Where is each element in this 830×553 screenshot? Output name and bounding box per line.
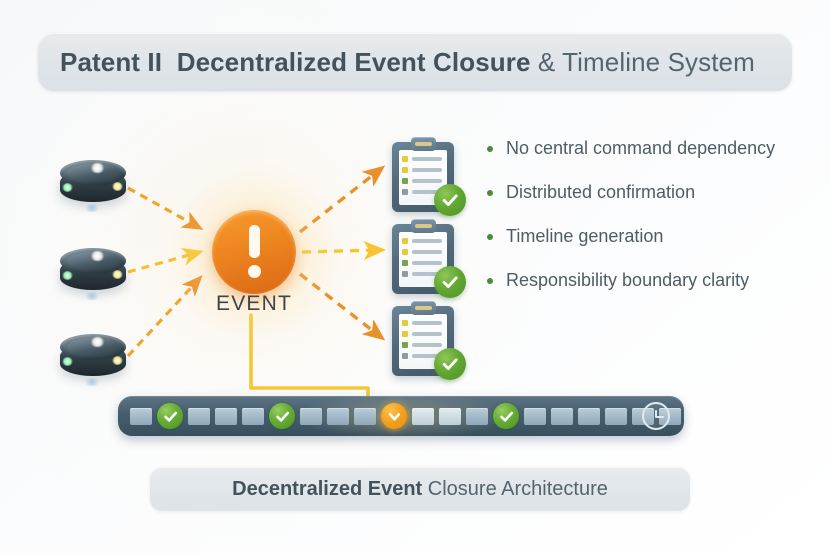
timeline-segment — [354, 408, 376, 425]
timeline-bar — [118, 396, 684, 436]
page-title: Patent II Decentralized Event Closure & … — [60, 47, 755, 78]
list-item: Responsibility boundary clarity — [487, 268, 817, 293]
robot-node-2 — [56, 244, 130, 296]
timeline-segment — [188, 408, 210, 425]
title-part-patent: Patent II — [60, 47, 162, 77]
benefit-label: Responsibility boundary clarity — [506, 268, 749, 293]
bullet-dot-icon — [487, 234, 493, 240]
check-circle-icon — [434, 348, 466, 380]
caption-text: Decentralized Event Closure Architecture — [232, 478, 608, 501]
robot-underglow — [83, 378, 101, 386]
timeline-segment — [242, 408, 264, 425]
timeline-segment — [215, 408, 237, 425]
benefit-label: Timeline generation — [506, 224, 663, 249]
clipboard-clip — [411, 137, 436, 151]
caption-banner: Decentralized Event Closure Architecture — [150, 467, 690, 511]
closure-report-2 — [392, 218, 460, 294]
timeline-segment — [578, 408, 600, 425]
bullet-dot-icon — [487, 146, 493, 152]
timeline-segment — [551, 408, 573, 425]
clipboard-clip — [411, 301, 436, 315]
benefits-list: No central command dependency Distribute… — [487, 136, 817, 312]
robot-node-3 — [56, 330, 130, 382]
closure-report-3 — [392, 300, 460, 376]
caption-regular-part: Closure Architecture — [428, 478, 608, 500]
timeline-check-icon — [157, 403, 183, 429]
timeline-segment — [412, 408, 434, 425]
robot-underglow — [83, 204, 101, 212]
event-node — [212, 210, 296, 294]
timeline-segment — [524, 408, 546, 425]
check-circle-icon — [434, 184, 466, 216]
timeline-segment — [327, 408, 349, 425]
list-item: Timeline generation — [487, 224, 817, 249]
title-banner: Patent II Decentralized Event Closure & … — [38, 33, 792, 91]
exclamation-icon — [248, 225, 261, 279]
title-part-suffix: & Timeline System — [538, 47, 755, 77]
timeline-segment — [130, 408, 152, 425]
robot-highlight — [90, 337, 105, 347]
timeline-segment — [466, 408, 488, 425]
closure-report-1 — [392, 136, 460, 212]
robot-led-left — [62, 183, 73, 192]
slide-canvas: Patent II Decentralized Event Closure & … — [0, 0, 830, 553]
caption-bold-part: Decentralized Event — [232, 478, 422, 500]
clock-icon — [642, 402, 670, 430]
timeline-segment — [439, 408, 461, 425]
list-item: Distributed confirmation — [487, 180, 817, 205]
bullet-dot-icon — [487, 190, 493, 196]
timeline-current-marker-icon — [381, 403, 407, 429]
title-part-closure: Closure — [433, 47, 531, 77]
benefit-label: No central command dependency — [506, 136, 775, 161]
check-circle-icon — [434, 266, 466, 298]
robot-highlight — [90, 251, 105, 261]
list-item: No central command dependency — [487, 136, 817, 161]
robot-led-left — [62, 271, 73, 280]
robot-node-1 — [56, 156, 130, 208]
robot-led-left — [62, 357, 73, 366]
robot-highlight — [90, 163, 105, 173]
title-part-decentralized-event: Decentralized Event — [177, 47, 426, 77]
timeline-check-icon — [493, 403, 519, 429]
robot-underglow — [83, 292, 101, 300]
timeline-segment — [300, 408, 322, 425]
timeline-cells — [130, 403, 684, 429]
robot-led-right — [112, 356, 123, 365]
benefit-label: Distributed confirmation — [506, 180, 695, 205]
timeline-check-icon — [269, 403, 295, 429]
event-label: EVENT — [186, 292, 322, 316]
robot-led-right — [112, 270, 123, 279]
clipboard-clip — [411, 219, 436, 233]
bullet-dot-icon — [487, 278, 493, 284]
timeline-segment — [605, 408, 627, 425]
robot-led-right — [112, 182, 123, 191]
